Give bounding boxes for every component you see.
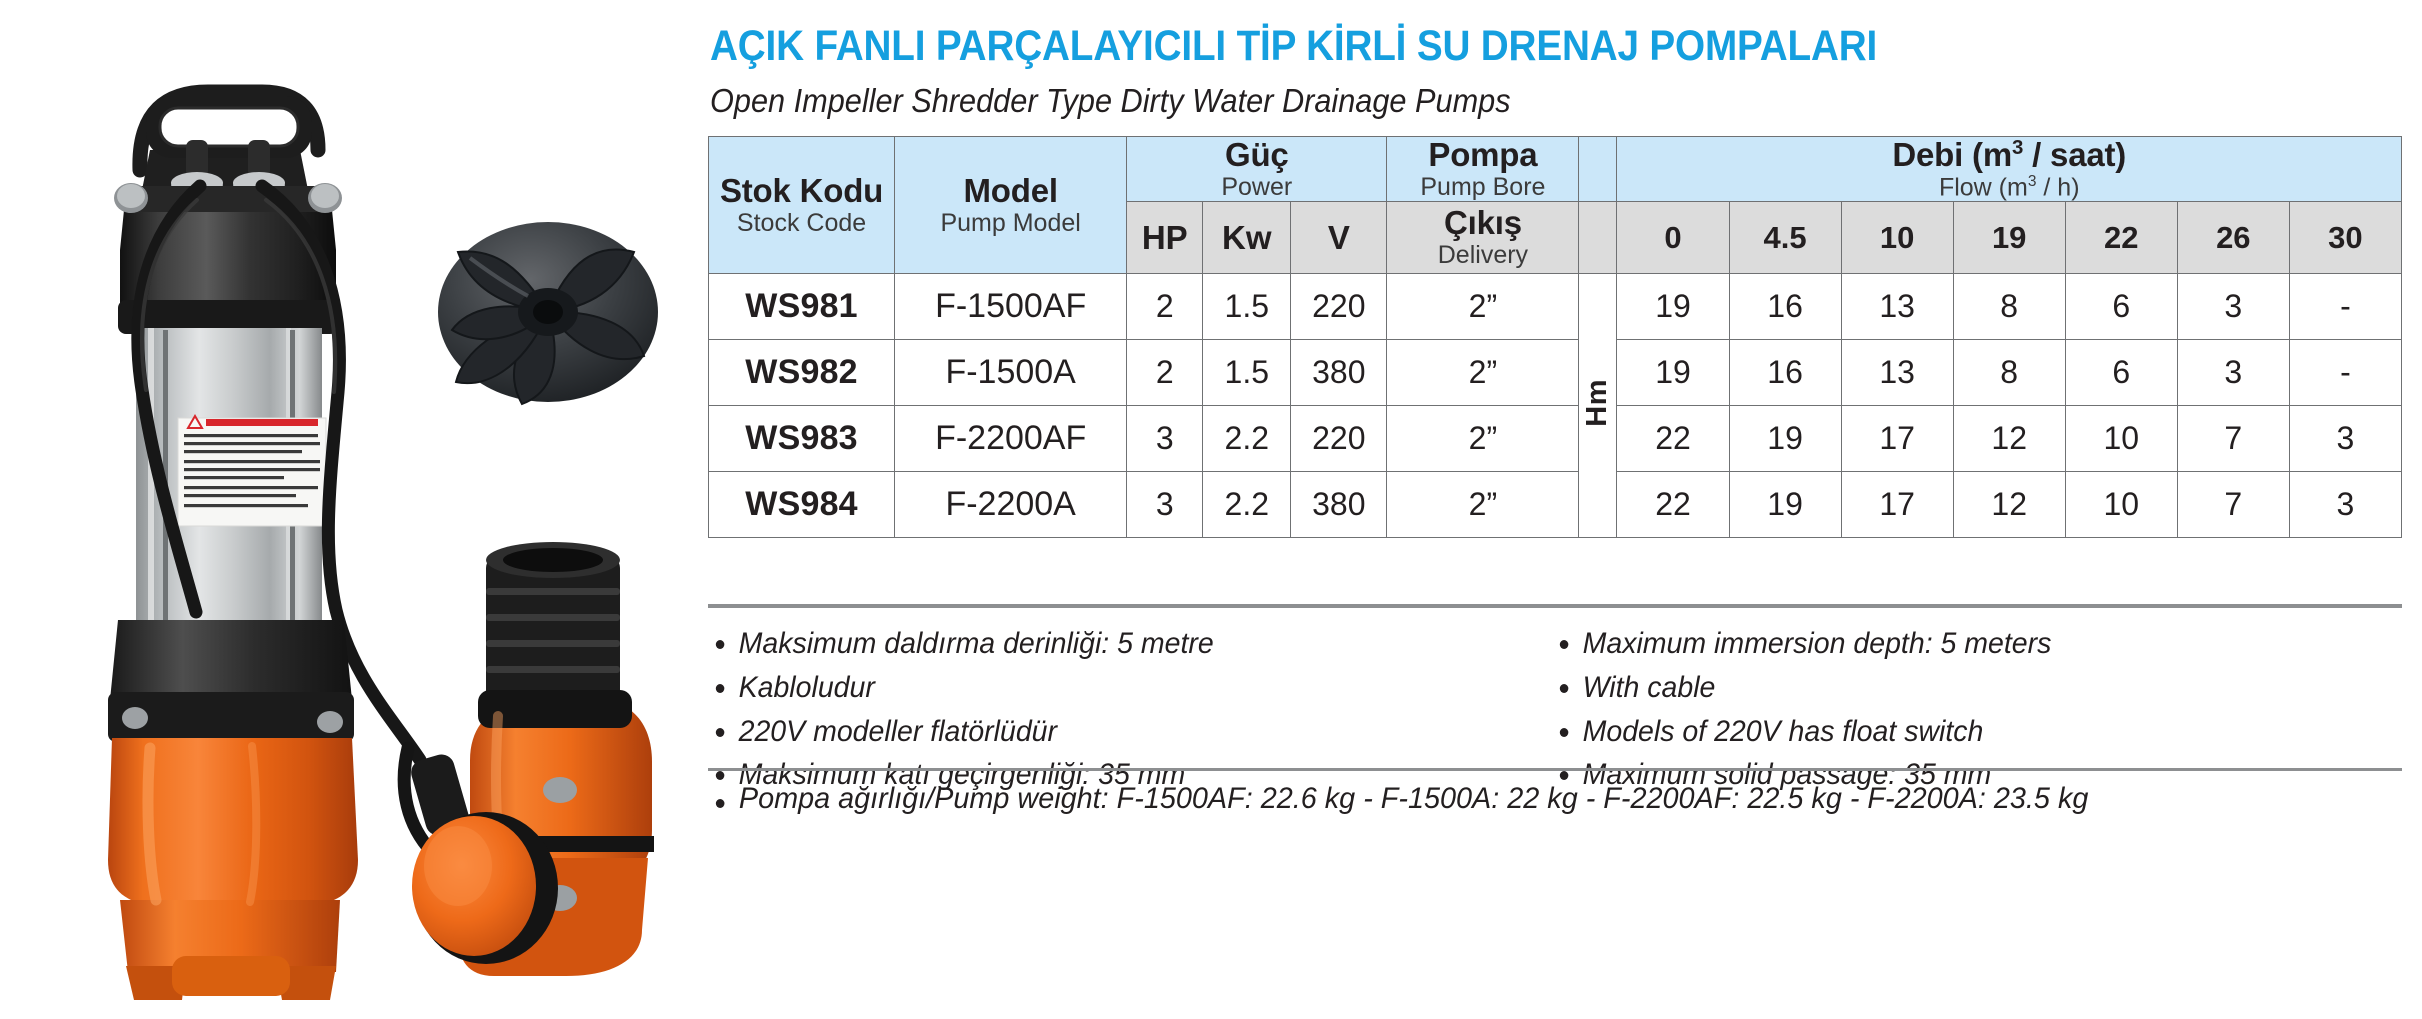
list-item: Kabloludur — [712, 666, 1214, 710]
list-item: Maximum immersion depth: 5 meters — [1556, 622, 2051, 666]
catalog-page: AÇIK FANLI PARÇALAYICILI TİP KİRLİ SU DR… — [0, 0, 2422, 1019]
cell-head-5: 3 — [2177, 274, 2289, 340]
cell-head-6: - — [2289, 274, 2401, 340]
list-item: Models of 220V has float switch — [1556, 710, 2051, 754]
cell-head-1: 19 — [1729, 472, 1841, 538]
cell-stock-code: WS981 — [709, 274, 895, 340]
cell-model: F-2200AF — [895, 406, 1127, 472]
cell-head-3: 12 — [1953, 472, 2065, 538]
cell-hp: 2 — [1127, 340, 1203, 406]
cell-head-4: 10 — [2065, 406, 2177, 472]
cell-head-0: 22 — [1617, 406, 1729, 472]
cell-hp: 2 — [1127, 274, 1203, 340]
header-hm-spacer — [1579, 137, 1617, 202]
table-header-row-1: Stok Kodu Stock Code Model Pump Model Gü… — [709, 137, 2402, 202]
header-hp: HP — [1127, 202, 1203, 274]
cell-delivery: 2” — [1387, 274, 1579, 340]
cell-head-2: 17 — [1841, 406, 1953, 472]
cell-voltage: 220 — [1291, 274, 1387, 340]
product-image-panel — [0, 0, 680, 1019]
pump-collar — [108, 620, 354, 742]
cell-head-0: 22 — [1617, 472, 1729, 538]
header-flow-19: 19 — [1953, 202, 2065, 274]
header-flow-10: 10 — [1841, 202, 1953, 274]
cell-head-6: - — [2289, 340, 2401, 406]
cell-head-0: 19 — [1617, 340, 1729, 406]
cell-hp: 3 — [1127, 406, 1203, 472]
pump-product-photo — [0, 0, 680, 1019]
cell-model: F-2200A — [895, 472, 1127, 538]
cell-model: F-1500AF — [895, 274, 1127, 340]
cell-head-1: 16 — [1729, 274, 1841, 340]
content-panel: AÇIK FANLI PARÇALAYICILI TİP KİRLİ SU DR… — [686, 0, 2422, 1019]
cell-kw: 1.5 — [1203, 340, 1291, 406]
cell-head-4: 6 — [2065, 274, 2177, 340]
hose-barb — [478, 542, 632, 728]
cell-head-6: 3 — [2289, 472, 2401, 538]
cell-voltage: 380 — [1291, 472, 1387, 538]
cell-delivery: 2” — [1387, 472, 1579, 538]
cell-head-5: 7 — [2177, 472, 2289, 538]
table-row: WS981 F-1500AF 2 1.5 220 2” Hm 19 16 13 … — [709, 274, 2402, 340]
cell-head-0: 19 — [1617, 274, 1729, 340]
hm-axis-label: Hm — [1579, 274, 1617, 538]
cell-head-2: 13 — [1841, 274, 1953, 340]
table-bottom-rule — [708, 604, 2402, 608]
cell-head-4: 10 — [2065, 472, 2177, 538]
cell-stock-code: WS983 — [709, 406, 895, 472]
cell-kw: 1.5 — [1203, 274, 1291, 340]
table-row: WS983 F-2200AF 3 2.2 220 2” 22 19 17 12 … — [709, 406, 2402, 472]
cell-delivery: 2” — [1387, 340, 1579, 406]
header-power-group: Güç Power — [1127, 137, 1387, 202]
cell-head-3: 12 — [1953, 406, 2065, 472]
cell-head-5: 7 — [2177, 406, 2289, 472]
carry-handle-icon — [140, 92, 318, 200]
header-bore-group: Pompa Pump Bore — [1387, 137, 1579, 202]
pump-weight-note: Pompa ağırlığı/Pump weight: F-1500AF: 22… — [712, 782, 2088, 816]
notes-divider-rule — [708, 768, 2402, 771]
list-item: 220V modeller flatörlüdür — [712, 710, 1214, 754]
header-voltage: V — [1291, 202, 1387, 274]
warning-label — [178, 416, 326, 526]
cell-head-2: 13 — [1841, 340, 1953, 406]
header-flow-0: 0 — [1617, 202, 1729, 274]
header-flow-4.5: 4.5 — [1729, 202, 1841, 274]
cell-stock-code: WS982 — [709, 340, 895, 406]
list-item: Maksimum daldırma derinliği: 5 metre — [712, 622, 1214, 666]
table-row: WS984 F-2200A 3 2.2 380 2” 22 19 17 12 1… — [709, 472, 2402, 538]
page-subtitle: Open Impeller Shredder Type Dirty Water … — [710, 82, 1511, 120]
cell-head-4: 6 — [2065, 340, 2177, 406]
cell-kw: 2.2 — [1203, 406, 1291, 472]
cell-delivery: 2” — [1387, 406, 1579, 472]
cell-stock-code: WS984 — [709, 472, 895, 538]
specification-table: Stok Kodu Stock Code Model Pump Model Gü… — [708, 136, 2402, 538]
header-delivery: Çıkış Delivery — [1387, 202, 1579, 274]
header-kw: Kw — [1203, 202, 1291, 274]
cell-voltage: 220 — [1291, 406, 1387, 472]
table-row: WS982 F-1500A 2 1.5 380 2” 19 16 13 8 6 … — [709, 340, 2402, 406]
open-impeller — [438, 222, 658, 404]
cell-head-5: 3 — [2177, 340, 2289, 406]
list-item: With cable — [1556, 666, 2051, 710]
header-flow-26: 26 — [2177, 202, 2289, 274]
cast-iron-pump-base — [108, 738, 358, 1000]
cell-head-2: 17 — [1841, 472, 1953, 538]
cell-head-3: 8 — [1953, 340, 2065, 406]
header-stock-code: Stok Kodu Stock Code — [709, 137, 895, 274]
header-flow-group: Debi (m3 / saat) Flow (m3 / h) — [1617, 137, 2402, 202]
cell-head-3: 8 — [1953, 274, 2065, 340]
cell-head-1: 16 — [1729, 340, 1841, 406]
cell-kw: 2.2 — [1203, 472, 1291, 538]
cell-model: F-1500A — [895, 340, 1127, 406]
cell-hp: 3 — [1127, 472, 1203, 538]
cell-voltage: 380 — [1291, 340, 1387, 406]
page-title: AÇIK FANLI PARÇALAYICILI TİP KİRLİ SU DR… — [710, 22, 1877, 71]
header-hm-spacer-2 — [1579, 202, 1617, 274]
header-flow-30: 30 — [2289, 202, 2401, 274]
header-flow-22: 22 — [2065, 202, 2177, 274]
header-model: Model Pump Model — [895, 137, 1127, 274]
cell-head-6: 3 — [2289, 406, 2401, 472]
cell-head-1: 19 — [1729, 406, 1841, 472]
